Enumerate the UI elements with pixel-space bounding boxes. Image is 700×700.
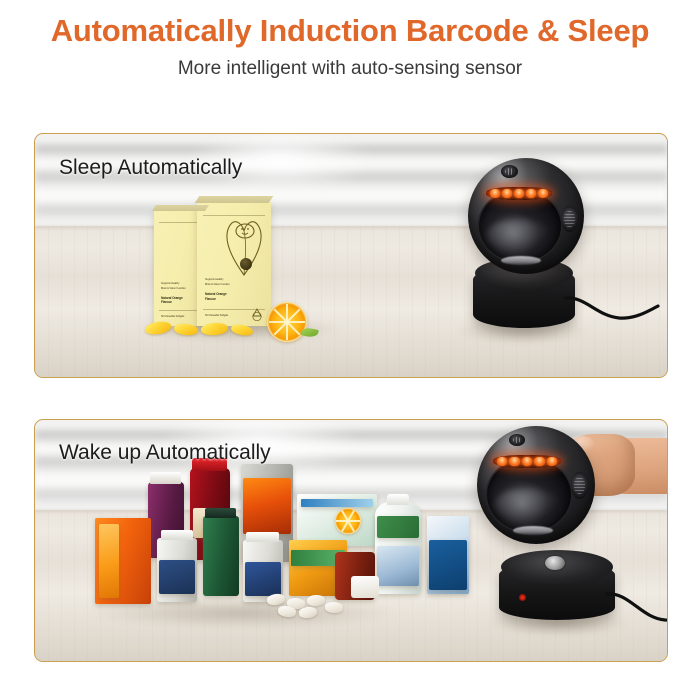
bottle-amber-cap-off xyxy=(351,576,379,598)
panel-sleep-label: Sleep Automatically xyxy=(59,156,242,180)
header: Automatically Induction Barcode & Sleep … xyxy=(0,0,700,120)
dock-cable xyxy=(605,588,667,636)
box-rear-line1: Supports Healthy xyxy=(161,282,179,286)
box-orange-panel xyxy=(99,524,119,598)
scanner-dock-base xyxy=(481,548,661,634)
page-subtitle: More intelligent with auto-sensing senso… xyxy=(0,58,700,80)
scanner-chin-contact xyxy=(501,256,541,265)
scanner-window xyxy=(487,458,571,532)
product-feature-image: Automatically Induction Barcode & Sleep … xyxy=(0,0,700,700)
scanner-led-bar xyxy=(486,187,552,200)
scanner-side-dial[interactable] xyxy=(571,472,588,499)
box-rear-top xyxy=(152,205,209,211)
page-title: Automatically Induction Barcode & Sleep xyxy=(0,13,700,49)
bottle-white-label-2 xyxy=(245,562,281,596)
dock-contact xyxy=(545,556,565,570)
box-rear-line5: 60 Chewable Softgels xyxy=(161,315,184,319)
bottle-green-cap xyxy=(205,508,236,518)
box-blackmores-band xyxy=(301,499,373,507)
box-front-top xyxy=(195,196,274,203)
supplement-can-label xyxy=(243,478,291,534)
sun-graphic xyxy=(335,508,361,534)
orange-slice xyxy=(267,302,307,342)
box-seal xyxy=(240,258,252,270)
box-immune-panel xyxy=(429,540,467,590)
bottle-green xyxy=(203,516,239,596)
scanner-led-bar xyxy=(493,455,561,468)
barcode-scanner-docked xyxy=(443,150,613,350)
box-front-line4: Flavour xyxy=(205,297,216,301)
recycle-icon xyxy=(250,308,264,322)
panel-wake-up-automatically: Wake up Automatically xyxy=(34,419,668,662)
tablet-6 xyxy=(325,601,344,613)
scanner-top-button[interactable] xyxy=(501,165,518,178)
box-front-line5: 60 Chewable Softgels xyxy=(205,314,228,318)
box-front-line2: Brain & Vision Function xyxy=(205,283,230,287)
scanner-side-dial[interactable] xyxy=(561,206,578,232)
barcode-scanner-head-held xyxy=(471,422,611,552)
scanner-cable xyxy=(563,290,659,330)
scanner-chin-contact xyxy=(513,526,553,535)
supplement-box-front: Supports Healthy Brain & Vision Function… xyxy=(197,202,271,326)
dock-status-led xyxy=(519,594,526,601)
vitamin-cap-white-1 xyxy=(150,472,181,484)
bottle-white-label xyxy=(159,560,195,594)
bottle-epo-panel xyxy=(377,546,419,586)
scanner-window xyxy=(479,190,561,262)
panel-wake-label: Wake up Automatically xyxy=(59,441,271,465)
bottle-white-cap xyxy=(161,530,193,540)
bottle-epo-band xyxy=(377,516,419,538)
bottle-epo-cap xyxy=(387,494,409,505)
panel-sleep-automatically: Supports Healthy Brain & Vision Function… xyxy=(34,133,668,378)
box-rear-line2: Brain & Vision Function xyxy=(161,287,186,291)
heart-line-art xyxy=(221,219,267,291)
bottle-white-cap-2 xyxy=(246,532,279,542)
box-rear-line4: Flavour xyxy=(161,300,172,304)
box-front-line1: Supports Healthy xyxy=(205,278,223,282)
scanner-top-button[interactable] xyxy=(509,434,525,446)
